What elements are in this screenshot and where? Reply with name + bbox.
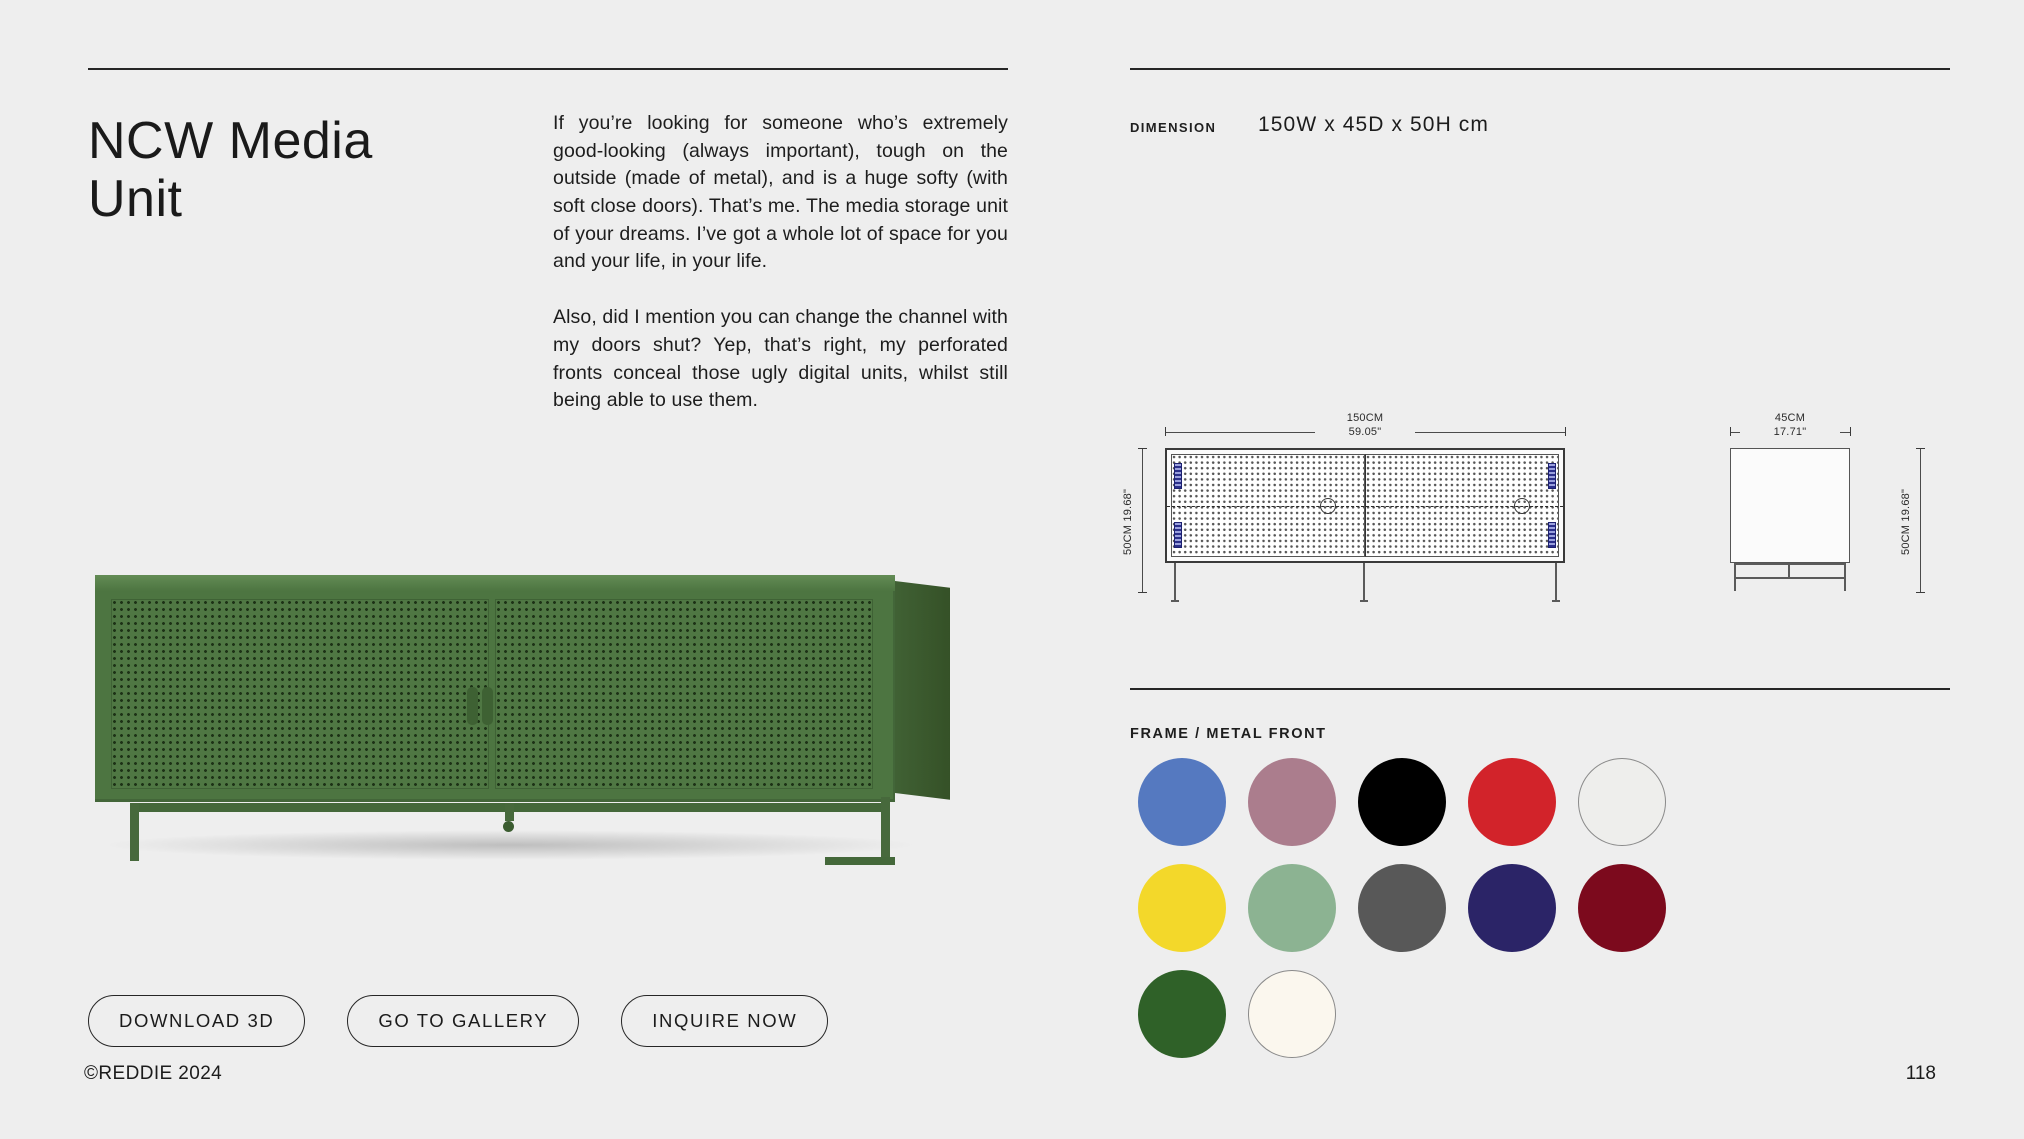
front-width-tick-right: [1565, 427, 1566, 436]
front-width-tick-left: [1165, 427, 1166, 436]
cabinet-side-panel: [895, 581, 950, 800]
front-height-dim-line: [1142, 448, 1143, 593]
side-depth-cm: 45CM: [1775, 412, 1805, 424]
front-height-in: 19.68": [1122, 489, 1134, 522]
download-3d-button[interactable]: DOWNLOAD 3D: [88, 995, 305, 1047]
front-view-foot-middle: [1360, 600, 1368, 602]
side-height-dim-line: [1920, 448, 1921, 593]
side-view-base: [1730, 563, 1850, 591]
swatch-dusty-pink[interactable]: [1248, 758, 1336, 846]
front-view-centerline: [1167, 506, 1563, 507]
cabinet-handle-right: [482, 687, 493, 725]
hinge-icon: [1174, 463, 1182, 489]
side-view-leg-right: [1844, 563, 1846, 591]
catalog-page: NCW Media Unit If you’re looking for som…: [0, 0, 2024, 1139]
go-to-gallery-button[interactable]: GO TO GALLERY: [347, 995, 579, 1047]
hinge-icon: [1548, 463, 1556, 489]
side-view-cabinet: [1730, 448, 1850, 563]
description-paragraph-1: If you’re looking for someone who’s extr…: [553, 110, 1008, 276]
cabinet-handle-left: [467, 687, 478, 725]
side-height-cm: 50CM: [1900, 525, 1912, 555]
side-depth-tick-right: [1850, 427, 1851, 436]
swatch-yellow[interactable]: [1138, 864, 1226, 952]
front-view-cabinet: [1165, 448, 1565, 563]
cabinet-door-left: [111, 599, 489, 789]
divider-left-top: [88, 68, 1008, 70]
swatch-cream[interactable]: [1248, 970, 1336, 1058]
front-view-leg-left: [1174, 563, 1176, 601]
cabinet-leg-right: [881, 797, 890, 861]
cabinet-knob: [503, 821, 514, 832]
photo-shadow: [100, 830, 920, 860]
swatch-black[interactable]: [1358, 758, 1446, 846]
front-view-leg-right: [1555, 563, 1557, 601]
front-view-foot-left: [1171, 600, 1179, 602]
dimension-value: 150W x 45D x 50H cm: [1258, 113, 1489, 137]
copyright-text: ©REDDIE 2024: [84, 1063, 222, 1085]
side-view-rail-bottom: [1734, 577, 1846, 579]
front-width-in: 59.05": [1349, 426, 1382, 438]
cabinet-top-surface: [95, 575, 895, 591]
side-view-leg-middle: [1788, 563, 1790, 577]
cabinet-leg-left: [130, 803, 139, 861]
cabinet-leg-middle: [505, 803, 514, 821]
description-paragraph-2: Also, did I mention you can change the c…: [553, 304, 1008, 415]
divider-swatch-top: [1130, 688, 1950, 690]
cabinet-door-right: [495, 599, 873, 789]
swatch-dark-grey[interactable]: [1358, 864, 1446, 952]
product-photo: [75, 575, 1005, 875]
action-buttons: DOWNLOAD 3D GO TO GALLERY INQUIRE NOW: [88, 995, 828, 1047]
swatch-white[interactable]: [1578, 758, 1666, 846]
side-view-rail-top: [1734, 563, 1846, 565]
side-view-leg-left: [1734, 563, 1736, 591]
swatch-blue[interactable]: [1138, 758, 1226, 846]
inquire-now-button[interactable]: INQUIRE NOW: [621, 995, 828, 1047]
side-height-tick-bottom: [1916, 592, 1925, 593]
dimension-label: DIMENSION: [1130, 120, 1216, 135]
swatch-navy[interactable]: [1468, 864, 1556, 952]
page-number: 118: [1906, 1063, 1936, 1085]
swatch-sage-green[interactable]: [1248, 864, 1336, 952]
divider-right-top: [1130, 68, 1950, 70]
swatch-section-title: FRAME / METAL FRONT: [1130, 726, 1327, 742]
front-view-foot-right: [1552, 600, 1560, 602]
cabinet-foot-rail: [825, 857, 895, 865]
swatch-burgundy[interactable]: [1578, 864, 1666, 952]
product-description: If you’re looking for someone who’s extr…: [553, 110, 1008, 415]
side-height-in: 19.68": [1900, 489, 1912, 522]
swatch-red[interactable]: [1468, 758, 1556, 846]
swatch-forest-green[interactable]: [1138, 970, 1226, 1058]
technical-drawing: 150CM 59.05" 50CM 19.68": [1130, 410, 1950, 640]
side-depth-in: 17.71": [1774, 426, 1807, 438]
front-width-cm: 150CM: [1347, 412, 1383, 424]
swatch-grid: [1130, 758, 1674, 1058]
side-height-tick-top: [1916, 448, 1925, 449]
hinge-icon: [1548, 522, 1556, 548]
side-depth-tick-left: [1730, 427, 1731, 436]
page-title: NCW Media Unit: [88, 112, 518, 228]
front-height-cm: 50CM: [1122, 525, 1134, 555]
front-view-leg-middle: [1363, 563, 1365, 601]
front-height-tick-top: [1138, 448, 1147, 449]
front-height-tick-bottom: [1138, 592, 1147, 593]
hinge-icon: [1174, 522, 1182, 548]
